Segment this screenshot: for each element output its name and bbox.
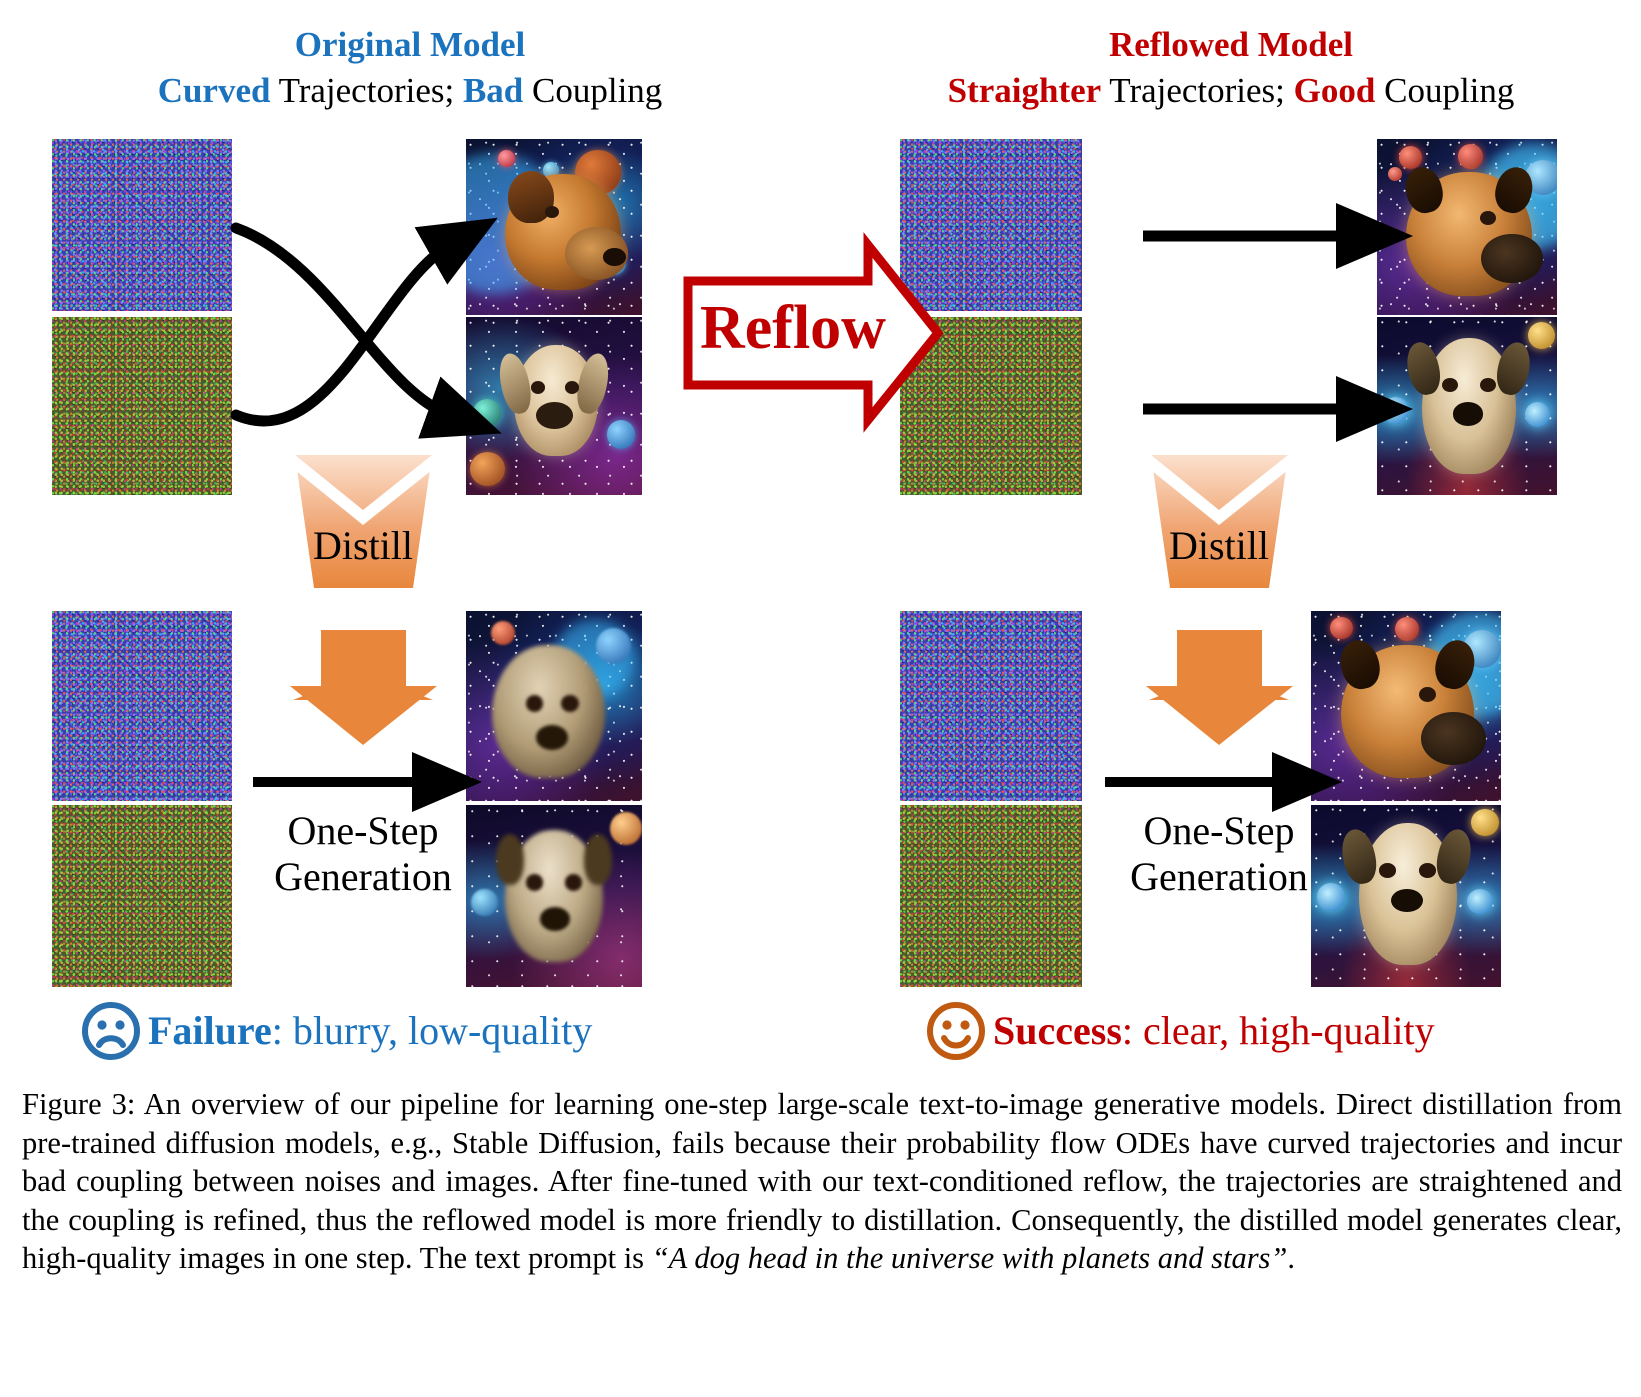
distill-right-head: [1146, 686, 1293, 745]
dog-eye: [1419, 863, 1436, 878]
planet-icon: [1382, 397, 1409, 424]
one-step-label-right: One-Step Generation: [1099, 808, 1339, 900]
generated-image-distilled-blurry-bottom: [466, 805, 642, 987]
generated-image-original-top: [466, 139, 642, 315]
reflow-label: Reflow: [700, 293, 886, 364]
left-panel-title-line2: Curved Trajectories; Bad Coupling: [0, 68, 820, 114]
planet-icon: [1525, 402, 1550, 427]
noise-tile-right-bottomrow-top: [900, 611, 1082, 801]
dog-ear: [496, 834, 524, 885]
dog-eye: [1480, 211, 1496, 225]
right-title-emph-straighter: Straighter: [948, 71, 1102, 110]
distill-left-stem: [321, 630, 406, 688]
left-title-emph-curved: Curved: [158, 71, 271, 110]
verdict-right-bold: Success: [993, 1008, 1122, 1053]
generated-image-reflowed-top: [1377, 139, 1557, 315]
distill-arrow-left-notch: [295, 455, 432, 525]
sad-face-icon: [80, 1000, 142, 1062]
noise-tile-right-bottomrow-bottom: [900, 805, 1082, 987]
happy-face-icon: [925, 1000, 987, 1062]
distill-arrow-right-lower: [1149, 637, 1289, 700]
verdict-left: Failure: blurry, low-quality: [80, 1000, 592, 1062]
distill-arrow-left-lower-guide: [293, 637, 433, 690]
noise-tile-left-top: [52, 139, 232, 311]
caption-lead: Figure 3:: [22, 1087, 135, 1121]
right-title-emph-good: Good: [1294, 71, 1376, 110]
distill-label-left: Distill: [243, 523, 483, 569]
dog-eye: [1442, 378, 1458, 392]
distill-arrow-right-notch: [1151, 455, 1288, 525]
dog-eye: [526, 874, 544, 890]
generated-image-reflowed-distilled-top: [1311, 611, 1501, 801]
right-panel-title-line2: Straighter Trajectories; Good Coupling: [821, 68, 1641, 114]
verdict-right-text: Success: clear, high-quality: [993, 1009, 1435, 1053]
planet-icon: [1471, 809, 1500, 836]
distill-left-head: [290, 686, 437, 745]
right-panel-title-line1: Reflowed Model: [821, 22, 1641, 68]
right-title-mid: Trajectories;: [1101, 71, 1293, 110]
distill-arrow-left-lower: [293, 637, 433, 700]
generated-image-reflowed-bottom: [1377, 317, 1557, 495]
dog-muzzle: [1421, 712, 1486, 765]
dog-head: [492, 645, 605, 778]
one-step-label-right-line1: One-Step: [1143, 808, 1294, 853]
right-panel-title: Reflowed Model Straighter Trajectories; …: [821, 22, 1641, 114]
dog-eye: [565, 874, 583, 890]
dog-eye: [531, 381, 545, 393]
planet-icon: [470, 452, 505, 486]
distill-label-right: Distill: [1099, 523, 1339, 569]
verdict-right-rest: : clear, high-quality: [1122, 1008, 1435, 1053]
noise-tile-left-bottom: [52, 317, 232, 495]
right-title-tail: Coupling: [1375, 71, 1514, 110]
verdict-left-rest: : blurry, low-quality: [272, 1008, 593, 1053]
figure-3-root: Original Model Curved Trajectories; Bad …: [0, 0, 1641, 1397]
noise-tile-right-top: [900, 139, 1082, 311]
dog-nose: [540, 907, 570, 931]
figure-caption: Figure 3: An overview of our pipeline fo…: [22, 1085, 1622, 1278]
planet-icon: [1399, 146, 1422, 169]
verdict-left-bold: Failure: [148, 1008, 272, 1053]
coupling-arrow-top-to-bottom: [236, 228, 450, 415]
one-step-label-left: One-Step Generation: [243, 808, 483, 900]
planet-icon: [607, 420, 635, 448]
caption-prompt: “A dog head in the universe with planets…: [652, 1241, 1288, 1275]
planet-icon: [1458, 144, 1483, 169]
left-title-tail: Coupling: [523, 71, 662, 110]
left-panel-title-line1: Original Model: [0, 22, 820, 68]
planet-icon: [610, 812, 642, 845]
dog-eye: [561, 695, 579, 712]
dog-nose: [1453, 402, 1484, 425]
left-title-mid: Trajectories;: [270, 71, 462, 110]
dog-muzzle: [1481, 234, 1542, 283]
caption-tail: .: [1287, 1241, 1295, 1275]
planet-icon: [1528, 322, 1555, 349]
generated-image-distilled-blurry-top: [466, 611, 642, 801]
noise-tile-left-bottomrow-bottom: [52, 805, 232, 987]
noise-tile-right-bottom: [900, 317, 1082, 495]
generated-image-reflowed-distilled-bottom: [1311, 805, 1501, 987]
left-title-emph-bad: Bad: [463, 71, 523, 110]
dog-ear: [584, 834, 612, 885]
dog-eye: [1480, 378, 1496, 392]
planet-icon: [1330, 617, 1353, 640]
dog-eye: [526, 695, 544, 712]
left-panel-title: Original Model Curved Trajectories; Bad …: [0, 22, 820, 114]
one-step-label-left-line1: One-Step: [287, 808, 438, 853]
noise-tile-left-bottomrow-top: [52, 611, 232, 801]
dog-nose: [603, 248, 626, 266]
distill-right-stem: [1177, 630, 1262, 688]
verdict-left-text: Failure: blurry, low-quality: [148, 1009, 592, 1053]
one-step-label-left-line2: Generation: [274, 854, 452, 899]
verdict-right: Success: clear, high-quality: [925, 1000, 1435, 1062]
generated-image-original-bottom: [466, 317, 642, 495]
dog-nose: [536, 725, 568, 750]
one-step-label-right-line2: Generation: [1130, 854, 1308, 899]
dog-eye: [565, 381, 579, 393]
coupling-arrow-bottom-to-top: [236, 245, 450, 421]
